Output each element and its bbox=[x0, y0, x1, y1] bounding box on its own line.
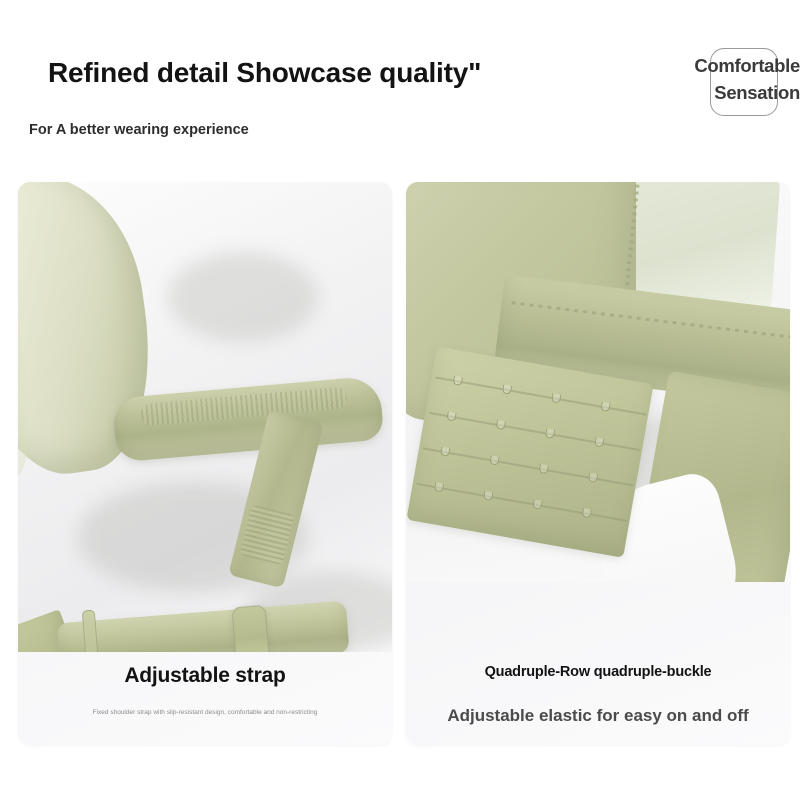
hook-eye-icon bbox=[545, 428, 555, 438]
hook-eye-icon bbox=[483, 491, 493, 501]
hook-eye-icon bbox=[502, 384, 512, 394]
hook-and-eye-panel bbox=[406, 346, 653, 558]
comfortable-sensation-badge: Comfortable Sensation bbox=[648, 46, 800, 122]
hook-eye-icon bbox=[453, 376, 463, 386]
hook-eye-icon bbox=[496, 420, 506, 430]
page-subtitle: For A better wearing experience bbox=[29, 122, 249, 138]
page-title: Refined detail Showcase quality" bbox=[48, 57, 481, 89]
hook-eye-icon bbox=[446, 411, 456, 421]
hook-eye-icon bbox=[600, 402, 610, 412]
hook-eye-icon bbox=[532, 499, 542, 509]
product-detail-page: Refined detail Showcase quality" For A b… bbox=[0, 0, 800, 800]
product-photo-strap bbox=[18, 182, 392, 652]
hook-eye-icon bbox=[594, 437, 604, 447]
feature-panel-adjustable-strap[interactable]: Adjustable strap Fixed shoulder strap wi… bbox=[18, 182, 392, 745]
panel-caption-sub: Adjustable elastic for easy on and off bbox=[406, 706, 790, 726]
badge-line-1: Comfortable bbox=[648, 55, 800, 77]
hook-eye-icon bbox=[582, 508, 592, 518]
hook-eye-icon bbox=[489, 455, 499, 465]
strap-loop-shape bbox=[112, 375, 385, 462]
product-photo-closure bbox=[406, 182, 790, 582]
panel-caption-main: Quadruple-Row quadruple-buckle bbox=[406, 664, 790, 680]
feature-panel-quadruple-buckle[interactable]: Quadruple-Row quadruple-buckle Adjustabl… bbox=[406, 182, 790, 745]
strap-band-shape bbox=[56, 601, 349, 652]
hook-eye-icon bbox=[539, 464, 549, 474]
strap-slider-buckle-shape bbox=[232, 605, 271, 652]
panel-caption-sub: Fixed shoulder strap with slip-resistant… bbox=[18, 709, 392, 716]
hook-eye-icon bbox=[440, 447, 450, 457]
hook-eye-icon bbox=[434, 482, 444, 492]
hook-eye-icon bbox=[588, 473, 598, 483]
hook-eye-icon bbox=[551, 393, 561, 403]
badge-line-2: Sensation bbox=[648, 82, 800, 104]
panel-caption-main: Adjustable strap bbox=[18, 664, 392, 688]
